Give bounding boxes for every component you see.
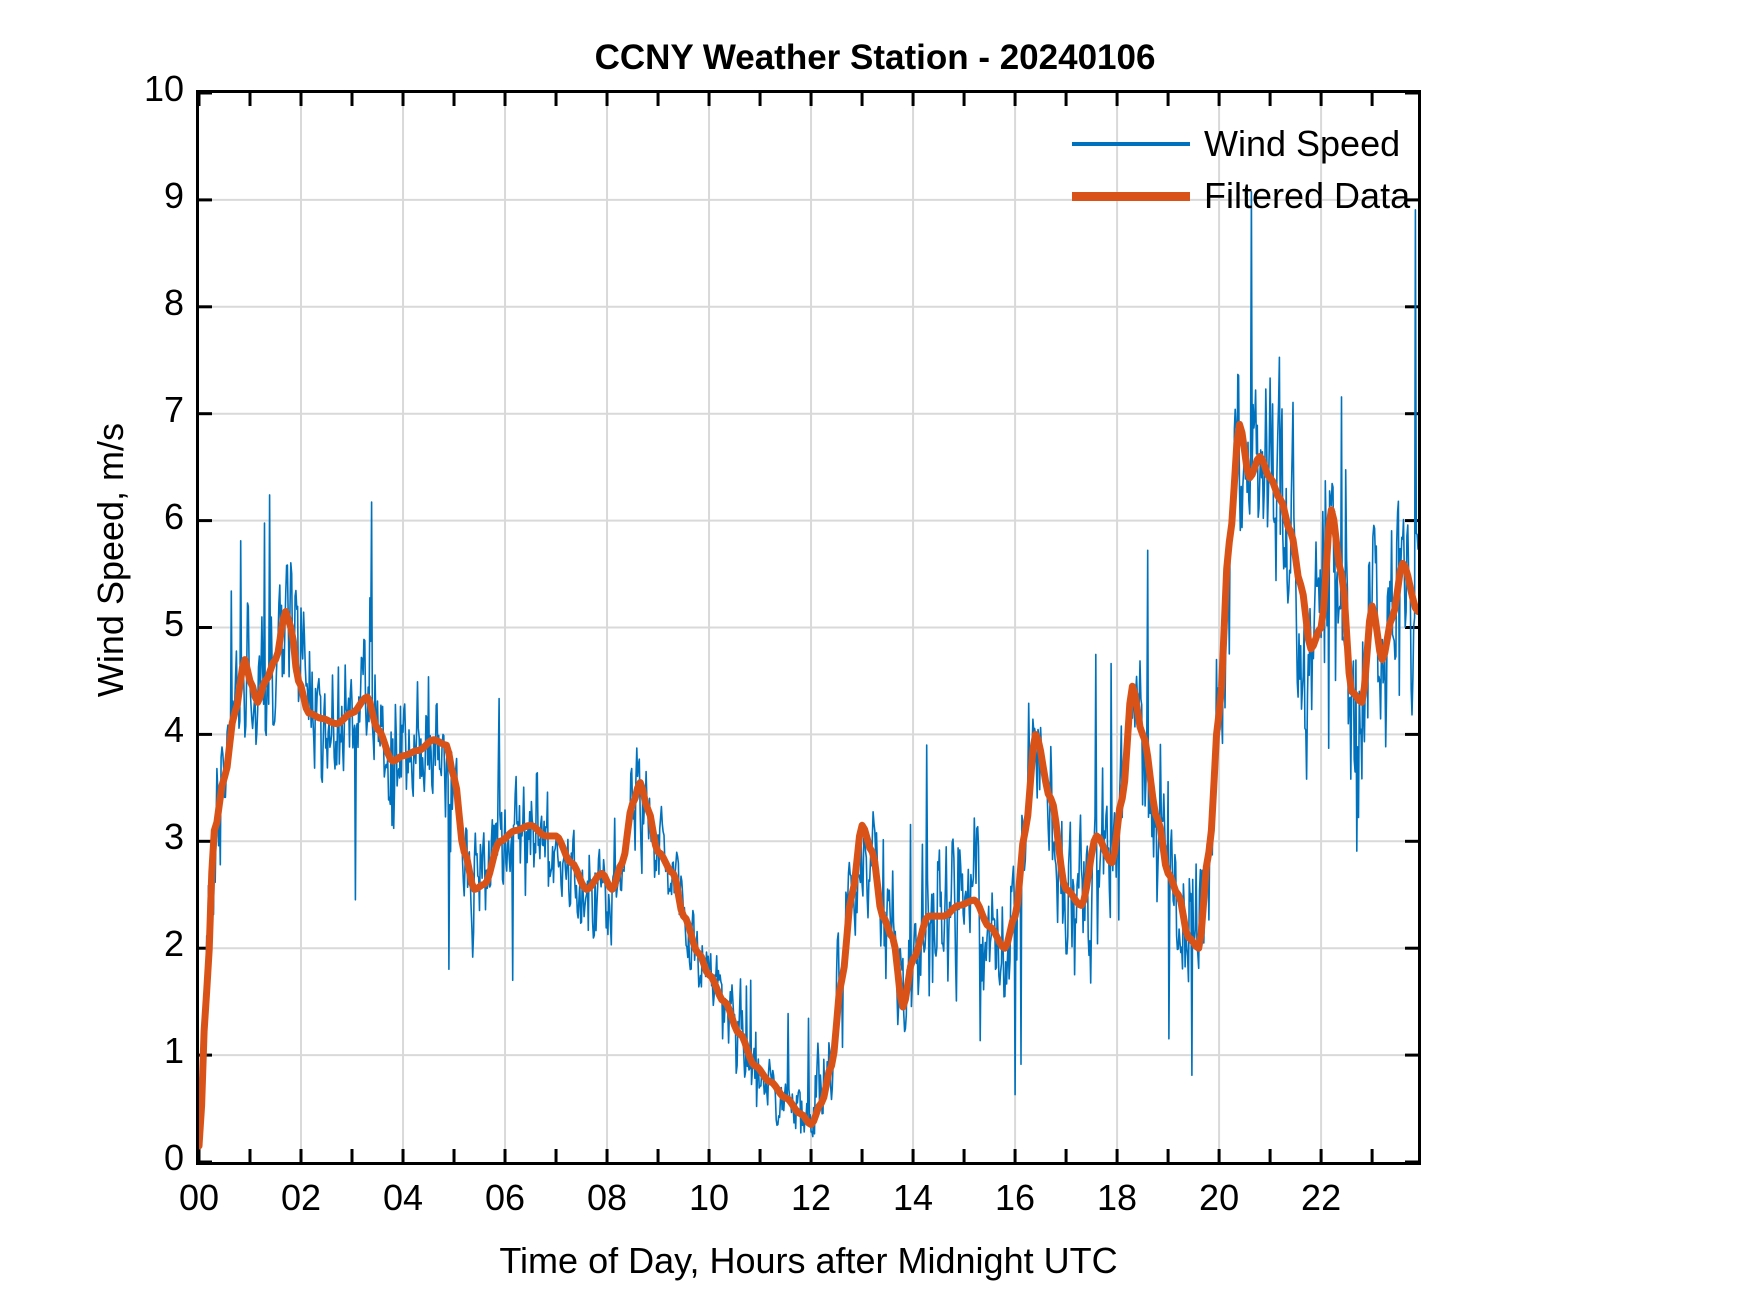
chart-figure: CCNY Weather Station - 20240106 Wind Spe… — [0, 0, 1750, 1313]
y-tick-label: 7 — [64, 392, 184, 428]
y-tick-label: 0 — [64, 1140, 184, 1176]
legend-item-wind-speed: Wind Speed — [1072, 118, 1412, 170]
x-axis-label: Time of Day, Hours after Midnight UTC — [196, 1240, 1421, 1282]
y-tick-label: 5 — [64, 606, 184, 642]
plot-svg — [199, 93, 1418, 1162]
legend-swatch-wind-speed-icon — [1072, 142, 1190, 146]
y-tick-label: 3 — [64, 819, 184, 855]
legend-label-filtered-data: Filtered Data — [1190, 175, 1410, 217]
wind-speed-line — [199, 192, 1418, 1147]
y-tick-label: 8 — [64, 285, 184, 321]
y-tick-label: 1 — [64, 1033, 184, 1069]
y-tick-label: 10 — [64, 71, 184, 107]
grid-lines — [199, 93, 1418, 1162]
plot-area — [196, 90, 1421, 1165]
legend-label-wind-speed: Wind Speed — [1190, 123, 1400, 165]
y-tick-label: 6 — [64, 499, 184, 535]
y-tick-label: 2 — [64, 926, 184, 962]
chart-title: CCNY Weather Station - 20240106 — [0, 38, 1750, 78]
y-tick-label: 9 — [64, 178, 184, 214]
legend-swatch-filtered-data-icon — [1072, 192, 1190, 201]
legend-item-filtered-data: Filtered Data — [1072, 170, 1412, 222]
x-tick-label: 22 — [1261, 1180, 1381, 1216]
chart-legend: Wind Speed Filtered Data — [1072, 118, 1412, 222]
y-tick-label: 4 — [64, 712, 184, 748]
